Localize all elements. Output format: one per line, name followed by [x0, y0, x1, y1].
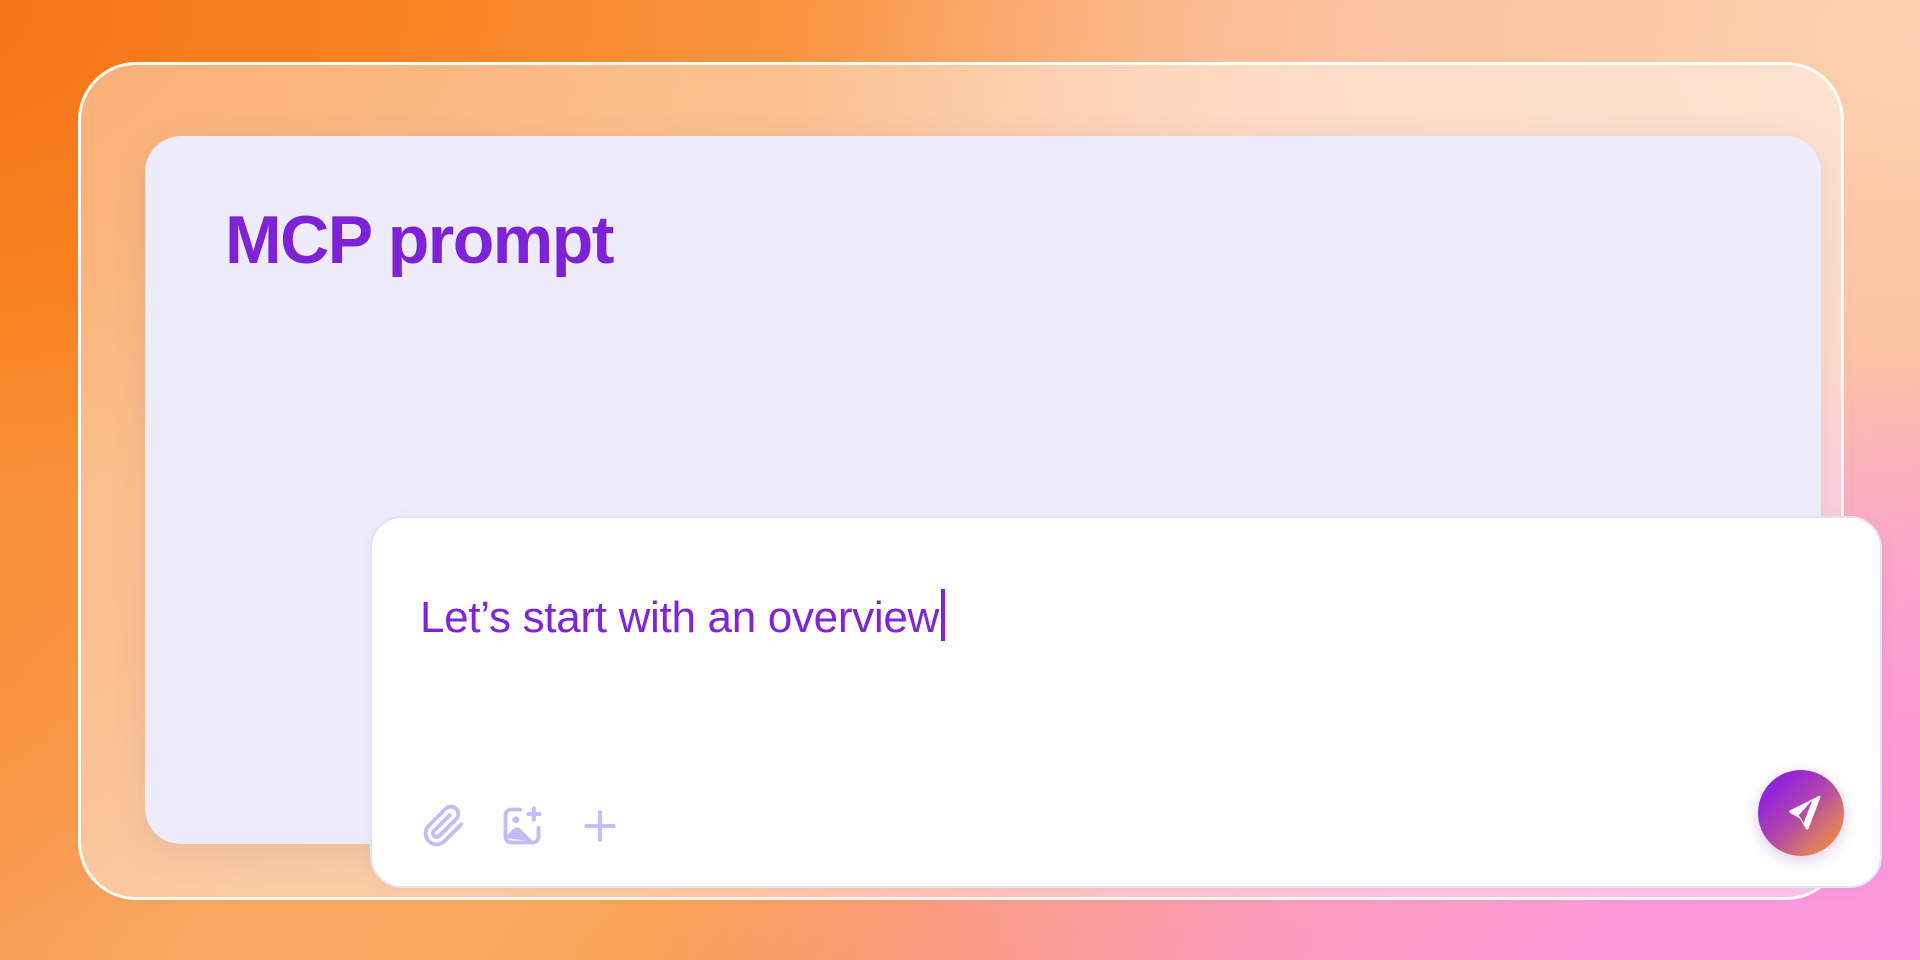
page-title: MCP prompt — [225, 206, 1741, 274]
prompt-card: MCP prompt Let’s start with an overview — [145, 136, 1821, 844]
text-caret — [941, 589, 945, 641]
prompt-input-value[interactable]: Let’s start with an overview — [420, 594, 939, 642]
composer-toolbar — [420, 802, 624, 850]
plus-icon[interactable] — [576, 802, 624, 850]
prompt-composer[interactable]: Let’s start with an overview — [370, 516, 1882, 888]
send-button[interactable] — [1758, 770, 1844, 856]
send-paper-plane-icon — [1778, 790, 1824, 836]
image-plus-icon[interactable] — [498, 802, 546, 850]
prompt-input[interactable]: Let’s start with an overview — [420, 580, 1832, 642]
paperclip-icon[interactable] — [420, 802, 468, 850]
